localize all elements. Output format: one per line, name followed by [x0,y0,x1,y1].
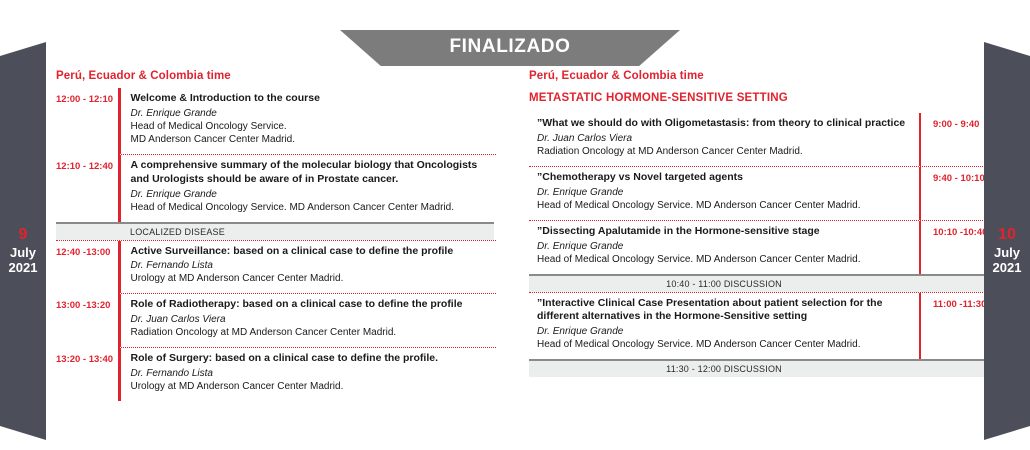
agenda-row-content: Welcome & Introduction to the courseDr. … [131,88,497,154]
agenda-row-time: 13:20 - 13:40 [56,348,118,401]
agenda-row-title: A comprehensive summary of the molecular… [131,159,497,187]
agenda-band-label: LOCALIZED DISEASE [130,227,225,237]
agenda-column-day-10: Perú, Ecuador & Colombia time METASTATIC… [529,70,995,377]
agenda-row-time: 12:00 - 12:10 [56,88,118,154]
agenda-column-day-9: Perú, Ecuador & Colombia time 12:00 - 12… [56,70,496,401]
agenda-row-accent-rule [118,348,121,401]
day-tab-right-month: July [984,245,1030,260]
agenda-row-speaker: Dr. Enrique Grande [537,186,911,199]
day-tab-left-date: 9 July 2021 [0,226,46,276]
agenda-row-affiliation: Head of Medical Oncology Service. MD And… [537,253,911,266]
agenda-row-title: ”Dissecting Apalutamide in the Hormone-s… [537,225,911,239]
agenda-list-left: 12:00 - 12:10Welcome & Introduction to t… [56,88,496,401]
agenda-row-content: ”What we should do with Oligometastasis:… [529,113,919,166]
agenda-row-speaker: Dr. Enrique Grande [131,188,497,201]
agenda-row[interactable]: 13:20 - 13:40Role of Surgery: based on a… [56,348,496,401]
column-left-timezone-heading: Perú, Ecuador & Colombia time [56,70,496,82]
agenda-row[interactable]: 12:00 - 12:10Welcome & Introduction to t… [56,88,496,154]
agenda-band-label: 11:30 - 12:00 DISCUSSION [666,364,782,374]
agenda-row-affiliation: Head of Medical Oncology Service. [131,120,497,133]
agenda-row-time: 9:00 - 9:40 [921,113,995,166]
section-title-metastatic-hormone-sensitive: METASTATIC HORMONE-SENSITIVE SETTING [529,92,995,104]
agenda-band: 10:40 - 11:00 DISCUSSION [529,274,995,292]
agenda-row-time: 10:10 -10:40 [921,221,995,274]
agenda-row-content: A comprehensive summary of the molecular… [131,155,497,222]
agenda-row[interactable]: ”Interactive Clinical Case Presentation … [529,293,995,360]
agenda-row-title: ”Chemotherapy vs Novel targeted agents [537,171,911,185]
day-tab-left-number: 9 [0,226,46,245]
agenda-band-label: 10:40 - 11:00 DISCUSSION [666,279,782,289]
agenda-row-speaker: Dr. Fernando Lista [131,367,497,380]
agenda-row-affiliation: Radiation Oncology at MD Anderson Cancer… [131,326,497,339]
agenda-row-speaker: Dr. Enrique Grande [131,107,497,120]
day-tab-right[interactable]: 10 July 2021 [984,42,1030,440]
agenda-list-right: ”What we should do with Oligometastasis:… [529,113,995,377]
agenda-row-affiliation: Head of Medical Oncology Service. MD And… [131,201,497,214]
agenda-row-content: Active Surveillance: based on a clinical… [131,241,497,294]
agenda-row[interactable]: 13:00 -13:20Role of Radiotherapy: based … [56,294,496,347]
agenda-row[interactable]: ”Chemotherapy vs Novel targeted agentsDr… [529,167,995,220]
status-banner-label: FINALIZADO [340,30,680,66]
agenda-row-accent-rule [118,155,121,222]
agenda-row-content: ”Interactive Clinical Case Presentation … [529,293,919,360]
agenda-row-affiliation: Radiation Oncology at MD Anderson Cancer… [537,145,911,158]
agenda-row-title: Active Surveillance: based on a clinical… [131,245,497,259]
agenda-row-time: 12:10 - 12:40 [56,155,118,222]
agenda-row-content: ”Chemotherapy vs Novel targeted agentsDr… [529,167,919,220]
agenda-row-speaker: Dr. Juan Carlos Viera [537,132,911,145]
agenda-row-title: Welcome & Introduction to the course [131,92,497,106]
agenda-row[interactable]: 12:40 -13:00Active Surveillance: based o… [56,241,496,294]
agenda-row-title: ”Interactive Clinical Case Presentation … [537,297,911,325]
agenda-row-speaker: Dr. Enrique Grande [537,240,911,253]
agenda-row-time: 11:00 -11:30 [921,293,995,360]
agenda-row-accent-rule [118,241,121,294]
agenda-row-title: Role of Surgery: based on a clinical cas… [131,352,497,366]
agenda-row-time: 12:40 -13:00 [56,241,118,294]
day-tab-right-year: 2021 [984,260,1030,275]
agenda-row[interactable]: 12:10 - 12:40A comprehensive summary of … [56,155,496,222]
agenda-row-affiliation: MD Anderson Cancer Center Madrid. [131,133,497,146]
day-tab-left-year: 2021 [0,260,46,275]
agenda-row-time: 13:00 -13:20 [56,294,118,347]
day-tab-left-month: July [0,245,46,260]
agenda-row-speaker: Dr. Fernando Lista [131,259,497,272]
agenda-row-accent-rule [118,88,121,154]
agenda-row-time: 9:40 - 10:10 [921,167,995,220]
agenda-row-speaker: Dr. Enrique Grande [537,325,911,338]
agenda-row-title: Role of Radiotherapy: based on a clinica… [131,298,497,312]
agenda-row-affiliation: Urology at MD Anderson Cancer Center Mad… [131,272,497,285]
agenda-band: LOCALIZED DISEASE [56,222,494,240]
agenda-row-content: Role of Radiotherapy: based on a clinica… [131,294,497,347]
agenda-row-accent-rule [118,294,121,347]
agenda-row-title: ”What we should do with Oligometastasis:… [537,117,911,131]
agenda-row-affiliation: Urology at MD Anderson Cancer Center Mad… [131,380,497,393]
day-tab-right-date: 10 July 2021 [984,226,1030,276]
agenda-band: 11:30 - 12:00 DISCUSSION [529,359,995,377]
agenda-row-content: Role of Surgery: based on a clinical cas… [131,348,497,401]
agenda-row[interactable]: ”Dissecting Apalutamide in the Hormone-s… [529,221,995,274]
day-tab-right-number: 10 [984,226,1030,245]
agenda-row[interactable]: ”What we should do with Oligometastasis:… [529,113,995,166]
agenda-row-affiliation: Head of Medical Oncology Service. MD And… [537,199,911,212]
status-banner: FINALIZADO [340,30,680,66]
column-right-timezone-heading: Perú, Ecuador & Colombia time [529,70,995,82]
day-tab-left[interactable]: 9 July 2021 [0,42,46,440]
agenda-row-speaker: Dr. Juan Carlos Viera [131,313,497,326]
agenda-row-content: ”Dissecting Apalutamide in the Hormone-s… [529,221,919,274]
agenda-row-affiliation: Head of Medical Oncology Service. MD And… [537,338,911,351]
